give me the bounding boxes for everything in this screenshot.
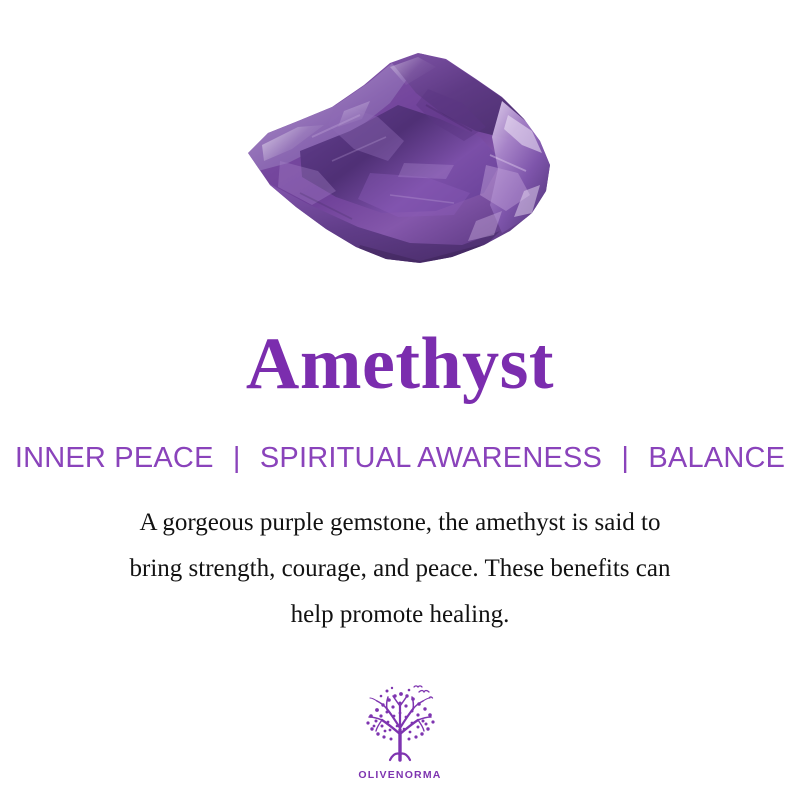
- description-line: help promote healing.: [50, 592, 750, 638]
- brand-wordmark: OLIVENORMA: [358, 769, 441, 781]
- attribute-balance: BALANCE: [648, 442, 785, 474]
- gemstone-image: [0, 0, 800, 320]
- amethyst-info-card: Amethyst INNER PEACE | SPIRITUAL AWARENE…: [0, 0, 800, 800]
- description-line: bring strength, courage, and peace. Thes…: [50, 546, 750, 592]
- description-text: A gorgeous purple gemstone, the amethyst…: [50, 500, 750, 638]
- description-line: A gorgeous purple gemstone, the amethyst…: [50, 500, 750, 546]
- page-title: Amethyst: [0, 327, 800, 401]
- raw-amethyst-crystal-icon: [240, 45, 560, 275]
- attribute-spiritual-awareness: SPIRITUAL AWARENESS: [260, 442, 602, 474]
- attribute-separator: |: [610, 443, 640, 475]
- attribute-separator: |: [222, 443, 252, 475]
- brand-logo: OLIVENORMA: [335, 682, 465, 781]
- tree-of-life-icon: [357, 682, 443, 768]
- attributes-line: INNER PEACE | SPIRITUAL AWARENESS | BALA…: [0, 443, 800, 475]
- attribute-inner-peace: INNER PEACE: [15, 442, 214, 474]
